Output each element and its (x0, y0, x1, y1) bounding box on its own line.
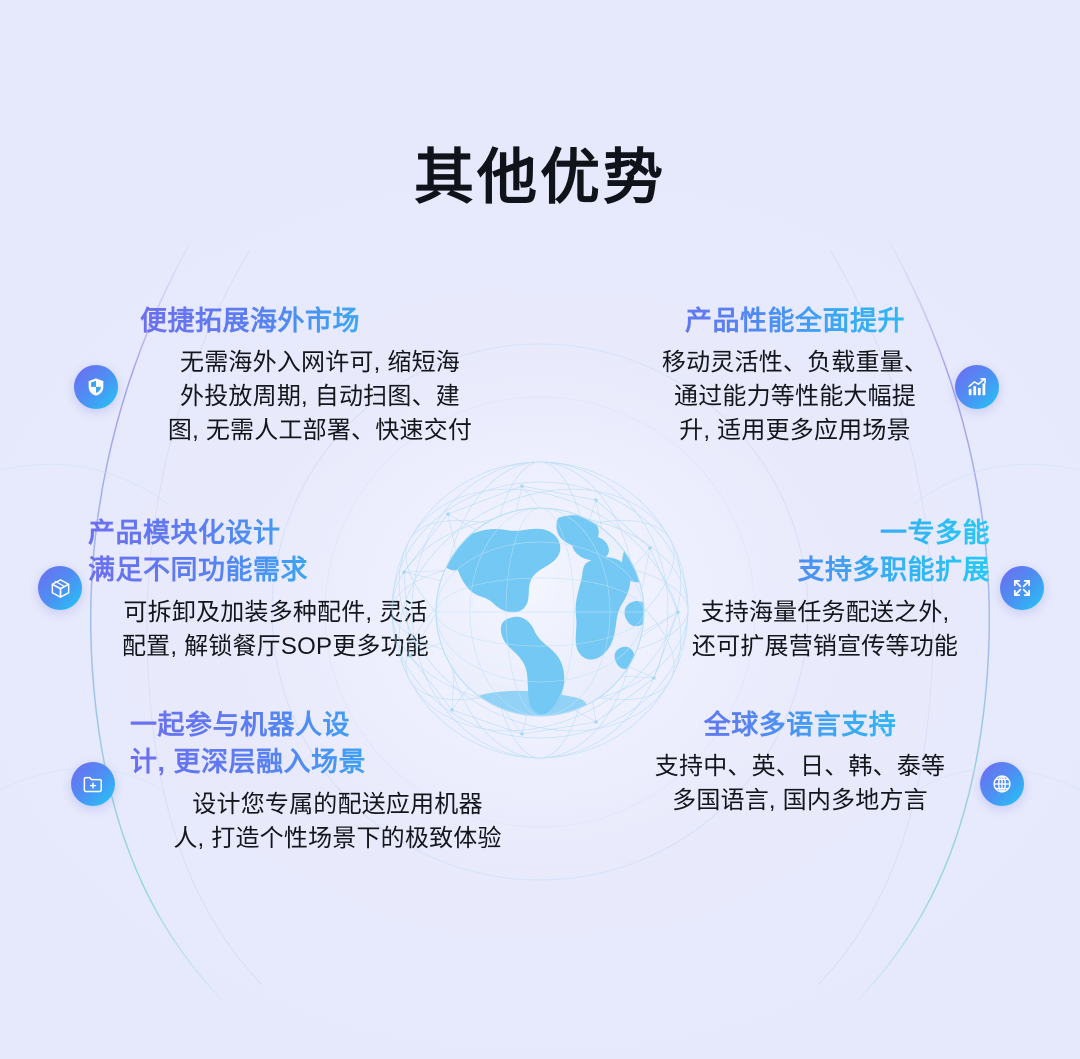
feature-heading: 全球多语言支持 (630, 707, 970, 744)
feature-heading: 一起参与机器人设 计, 更深层融入场景 (130, 707, 545, 782)
cube-icon[interactable] (38, 566, 82, 610)
wisp-right-1 (912, 464, 1080, 505)
globe-graticule (436, 508, 644, 716)
feature-body: 可拆卸及加装多种配件, 灵活 配置, 解锁餐厅SOP更多功能 (88, 596, 463, 664)
feature-body: 支持中、英、日、韩、泰等 多国语言, 国内多地方言 (630, 750, 970, 818)
feature-language: 全球多语言支持 支持中、英、日、韩、泰等 多国语言, 国内多地方言 (630, 707, 970, 818)
globe-continents (442, 515, 659, 717)
feature-codesign: 一起参与机器人设 计, 更深层融入场景 设计您专属的配送应用机器 人, 打造个性… (130, 707, 545, 856)
feature-body: 移动灵活性、负载重量、 通过能力等性能大幅提 升, 适用更多应用场景 (610, 346, 980, 448)
feature-body: 设计您专属的配送应用机器 人, 打造个性场景下的极致体验 (130, 788, 545, 856)
feature-heading: 便捷拓展海外市场 (140, 303, 500, 340)
feature-heading: 产品模块化设计 满足不同功能需求 (88, 515, 463, 590)
feature-overseas: 便捷拓展海外市场 无需海外入网许可, 缩短海 外投放周期, 自动扫图、建 图, … (140, 303, 500, 448)
growth-chart-icon[interactable] (955, 365, 999, 409)
feature-modular: 产品模块化设计 满足不同功能需求 可拆卸及加装多种配件, 灵活 配置, 解锁餐厅… (88, 515, 463, 664)
feature-heading: 一专多能 支持多职能扩展 (660, 515, 990, 590)
feature-body: 支持海量任务配送之外, 还可扩展营销宣传等功能 (660, 596, 990, 664)
infographic-canvas: 其他优势 (0, 0, 1080, 1059)
feature-performance: 产品性能全面提升 移动灵活性、负载重量、 通过能力等性能大幅提 升, 适用更多应… (610, 303, 980, 448)
globe-grid-icon[interactable] (980, 762, 1024, 806)
feature-multifunction: 一专多能 支持多职能扩展 支持海量任务配送之外, 还可扩展营销宣传等功能 (660, 515, 990, 664)
page-title: 其他优势 (0, 145, 1080, 211)
folder-plus-icon[interactable] (71, 762, 115, 806)
feature-body: 无需海外入网许可, 缩短海 外投放周期, 自动扫图、建 图, 无需人工部署、快速… (140, 346, 500, 448)
globe-outline (436, 508, 644, 716)
feature-heading: 产品性能全面提升 (610, 303, 980, 340)
shield-icon[interactable] (74, 365, 118, 409)
globe-sphere (436, 508, 644, 716)
wisp-left-1 (0, 464, 170, 505)
expand-arrows-icon[interactable] (1000, 566, 1044, 610)
